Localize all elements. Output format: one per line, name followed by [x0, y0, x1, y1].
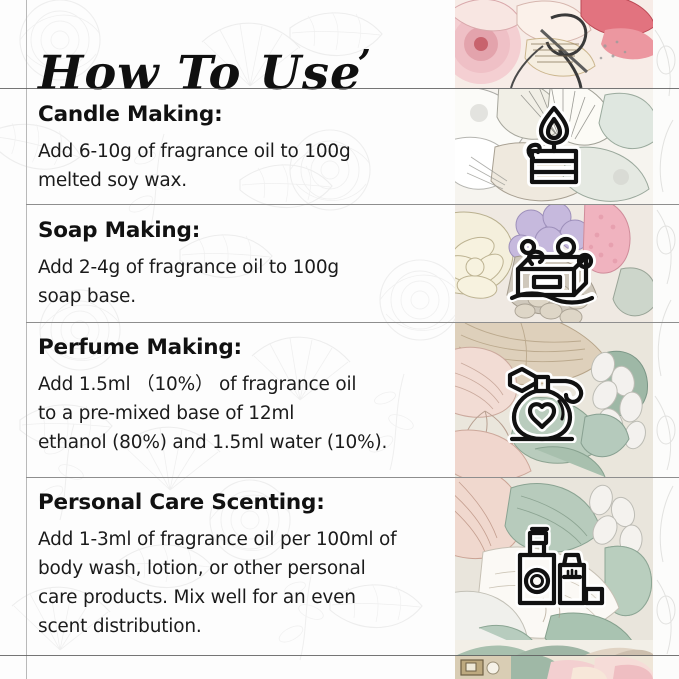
page-title-text: How To Use — [38, 46, 362, 101]
icon-wrap-personal-care — [455, 518, 653, 614]
bottom-photo-band-upper — [455, 640, 653, 656]
section-body-line: scent distribution. — [38, 612, 438, 641]
section-body-line: to a pre-mixed base of 12ml — [38, 399, 438, 428]
section-body: Add 1.5ml （10%） of fragrance oil to a pr… — [38, 370, 438, 457]
section-body-line: ethanol (80%) and 1.5ml water (10%). — [38, 428, 438, 457]
section-body-line: Add 6-10g of fragrance oil to 100g — [38, 137, 438, 166]
candle-icon — [512, 102, 596, 190]
section-heading: Personal Care Scenting: — [38, 490, 438, 515]
section-candle-making: Candle Making: Add 6-10g of fragrance oi… — [38, 102, 438, 195]
divider-soap-perfume — [26, 322, 679, 323]
section-body-line: Add 1-3ml of fragrance oil per 100ml of — [38, 525, 438, 554]
bottom-photo-band — [455, 656, 653, 679]
text-column: How To Use’ Candle Making: Add 6-10g of … — [0, 0, 455, 679]
section-perfume-making: Perfume Making: Add 1.5ml （10%） of fragr… — [38, 335, 438, 457]
divider-under-title — [0, 88, 679, 89]
section-body-line: Add 2-4g of fragrance oil to 100g — [38, 253, 438, 282]
section-body-line: care products. Mix well for an even — [38, 583, 438, 612]
soap-bar-icon — [506, 223, 602, 307]
how-to-use-card: How To Use’ Candle Making: Add 6-10g of … — [0, 0, 679, 679]
divider-bottom — [0, 655, 679, 656]
section-body-line: melted soy wax. — [38, 166, 438, 195]
divider-candle-soap — [26, 204, 679, 205]
section-body-line: Add 1.5ml （10%） of fragrance oil — [38, 370, 438, 399]
divider-perfume-personal — [26, 477, 679, 478]
section-heading: Candle Making: — [38, 102, 438, 127]
section-body: Add 2-4g of fragrance oil to 100g soap b… — [38, 253, 438, 311]
icon-wrap-candle — [455, 100, 653, 192]
section-soap-making: Soap Making: Add 2-4g of fragrance oil t… — [38, 218, 438, 311]
section-body: Add 1-3ml of fragrance oil per 100ml of … — [38, 525, 438, 641]
illustration-column — [455, 0, 653, 679]
section-heading: Perfume Making: — [38, 335, 438, 360]
rose-photo-band — [455, 0, 653, 88]
perfume-atomizer-icon — [504, 361, 604, 443]
icon-wrap-soap — [455, 220, 653, 310]
lotion-bottles-icon — [502, 521, 606, 611]
section-body-line: body wash, lotion, or other personal — [38, 554, 438, 583]
vertical-rail — [26, 0, 27, 679]
icon-wrap-perfume — [455, 360, 653, 444]
section-personal-care-scenting: Personal Care Scenting: Add 1-3ml of fra… — [38, 490, 438, 641]
right-edge-texture — [653, 0, 679, 679]
section-body: Add 6-10g of fragrance oil to 100g melte… — [38, 137, 438, 195]
section-body-line: soap base. — [38, 282, 438, 311]
page-title: How To Use’ — [38, 43, 372, 101]
title-flourish: ’ — [357, 41, 372, 86]
section-heading: Soap Making: — [38, 218, 438, 243]
